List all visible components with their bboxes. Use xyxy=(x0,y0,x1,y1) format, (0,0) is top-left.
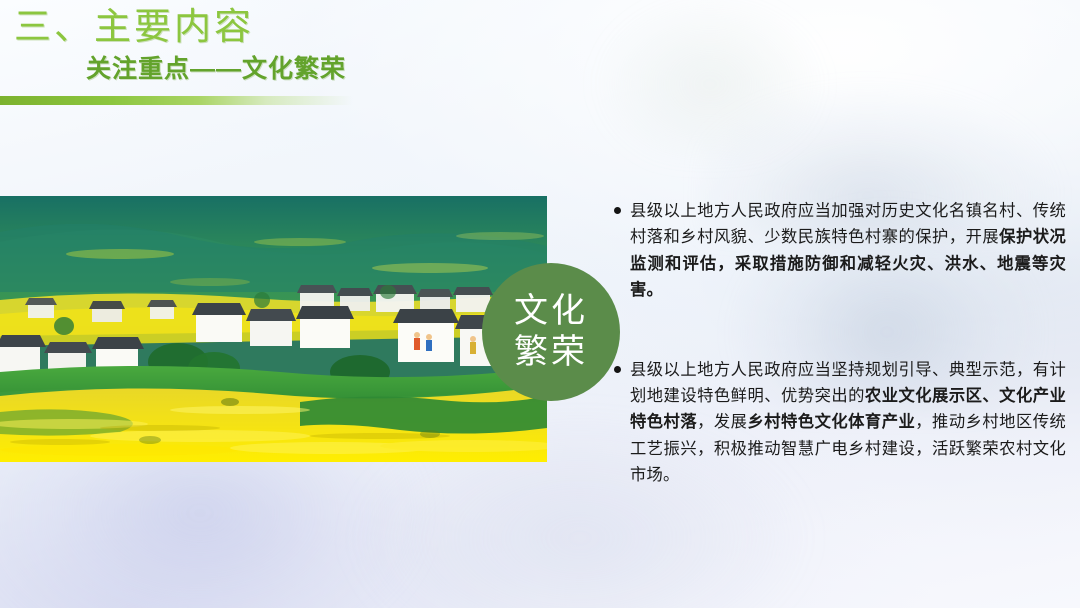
bullet-list: 县级以上地方人民政府应当加强对历史文化名镇名村、传统村落和乡村风貌、少数民族特色… xyxy=(614,198,1066,489)
slide-canvas: 三、主要内容 关注重点——文化繁荣 xyxy=(0,0,1080,608)
mist-silhouette-e xyxy=(560,0,860,160)
bullet-item-1: 县级以上地方人民政府应当加强对历史文化名镇名村、传统村落和乡村风貌、少数民族特色… xyxy=(614,198,1066,304)
bullet-dot-icon xyxy=(614,207,621,214)
bullet-dot-icon xyxy=(614,366,621,373)
bullet-item-2: 县级以上地方人民政府应当坚持规划引导、典型示范，有计划地建设特色鲜明、优势突出的… xyxy=(614,357,1066,489)
village-photo-illustration xyxy=(0,196,547,462)
focus-badge: 文化 繁荣 xyxy=(482,263,620,401)
title-underline-bar xyxy=(0,96,430,105)
bullet-text-1: 县级以上地方人民政府应当加强对历史文化名镇名村、传统村落和乡村风貌、少数民族特色… xyxy=(630,198,1066,304)
focus-badge-line2: 繁荣 xyxy=(514,332,588,373)
page-subtitle: 关注重点——文化繁荣 xyxy=(86,54,346,84)
focus-badge-line1: 文化 xyxy=(514,291,588,332)
village-photo xyxy=(0,196,547,462)
bullet-text-2: 县级以上地方人民政府应当坚持规划引导、典型示范，有计划地建设特色鲜明、优势突出的… xyxy=(630,357,1066,489)
page-title: 三、主要内容 xyxy=(14,6,254,49)
